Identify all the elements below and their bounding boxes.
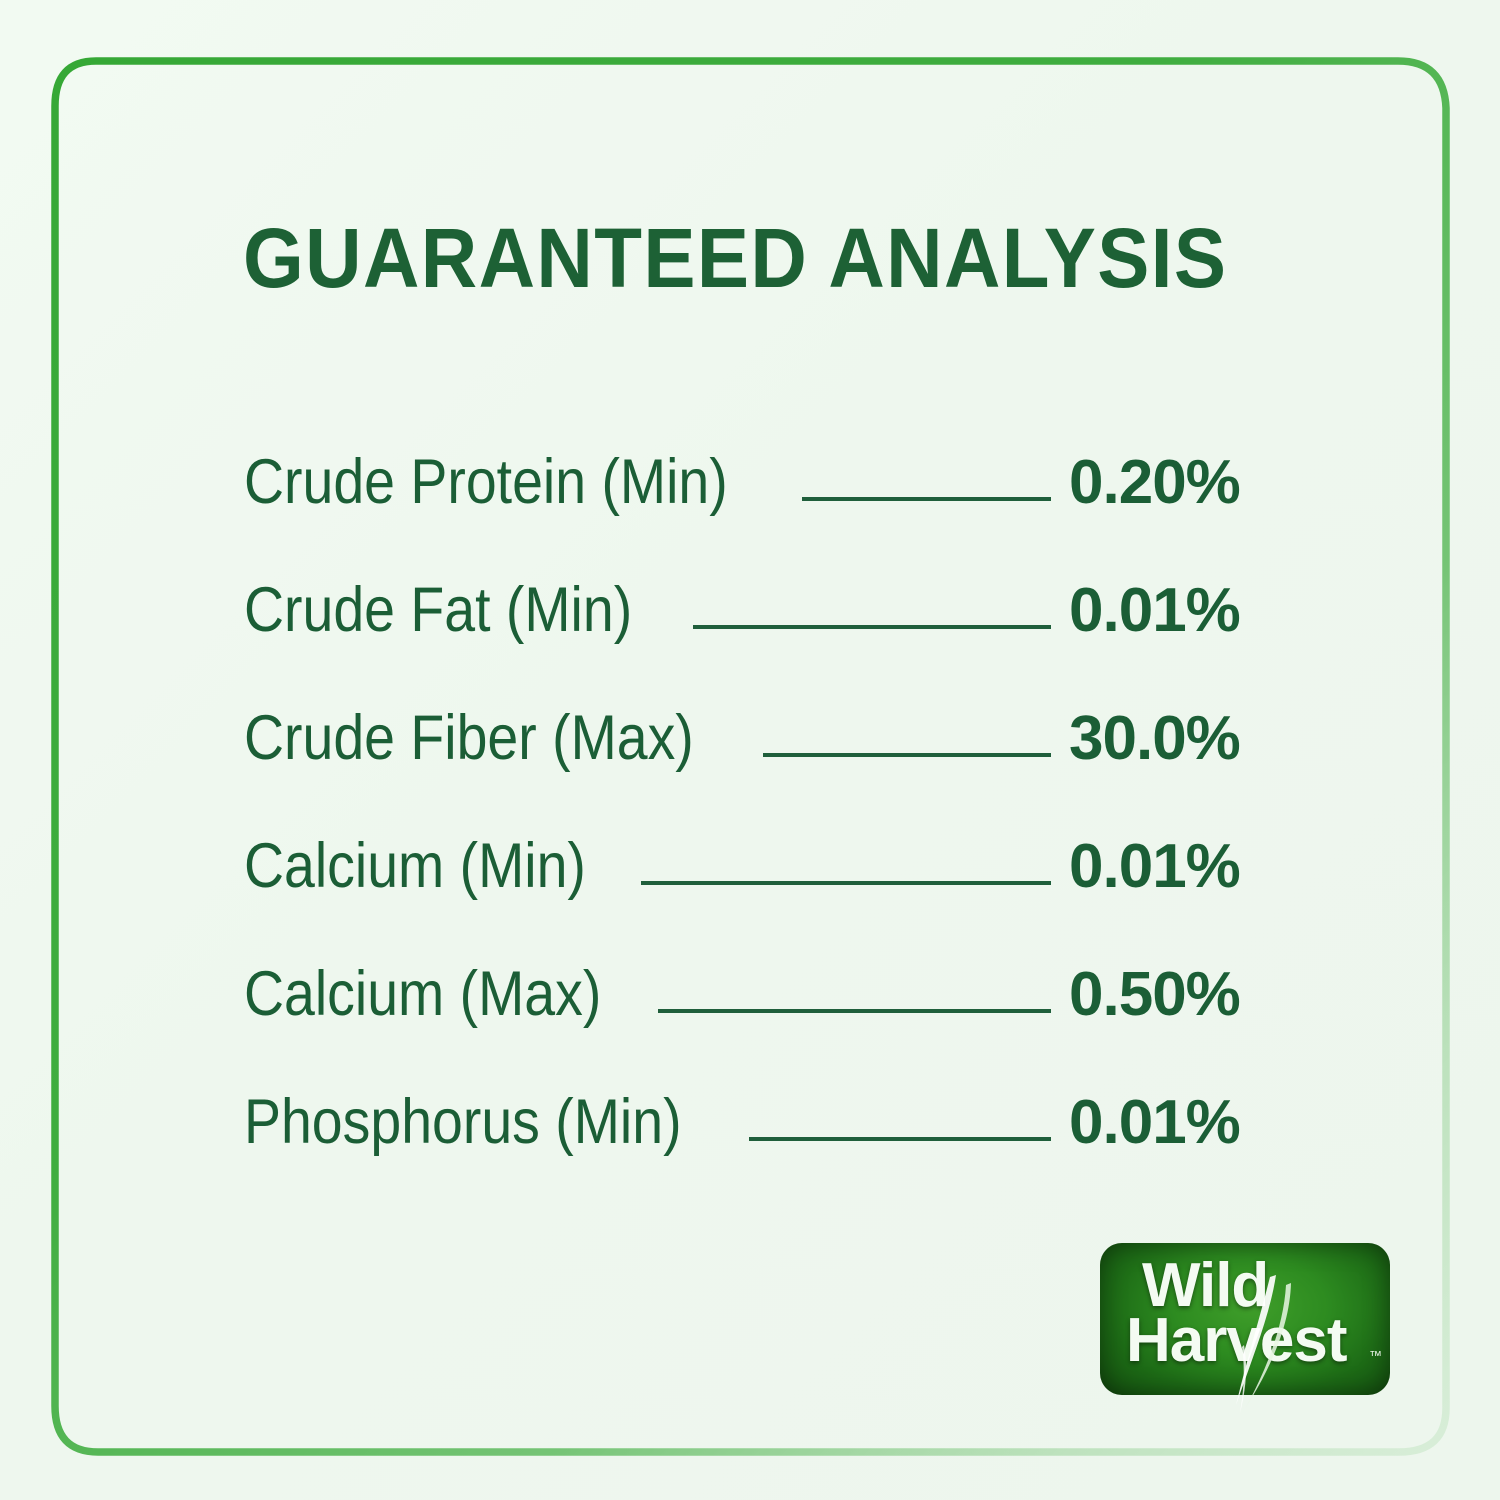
nutrient-value: 0.01%	[1061, 580, 1244, 642]
leader-line	[755, 696, 1061, 759]
guaranteed-analysis-panel: GUARANTEED ANALYSIS Crude Protein (Min) …	[0, 0, 1500, 1500]
grass-blade-icon	[1094, 1237, 1396, 1422]
brand-logo: Wild Harvest ™	[1100, 1243, 1390, 1395]
leader-line	[650, 952, 1061, 1015]
leader-line	[741, 1080, 1061, 1143]
nutrient-label: Crude Fiber (Max)	[244, 707, 694, 770]
guaranteed-analysis-list: Crude Protein (Min) 0.20% Crude Fat (Min…	[244, 440, 1244, 1208]
analysis-row: Phosphorus (Min) 0.01%	[244, 1080, 1244, 1208]
nutrient-label: Crude Protein (Min)	[244, 451, 728, 514]
leader-line	[685, 568, 1061, 631]
nutrient-label: Calcium (Max)	[244, 963, 601, 1026]
analysis-row: Crude Protein (Min) 0.20%	[244, 440, 1244, 568]
nutrient-value: 0.20%	[1061, 452, 1244, 514]
nutrient-value: 0.50%	[1061, 964, 1244, 1026]
nutrient-label: Crude Fat (Min)	[244, 579, 632, 642]
nutrient-label: Phosphorus (Min)	[244, 1091, 682, 1154]
analysis-row: Crude Fat (Min) 0.01%	[244, 568, 1244, 696]
leader-line	[633, 824, 1061, 887]
nutrient-value: 0.01%	[1061, 836, 1244, 898]
nutrient-value: 0.01%	[1061, 1092, 1244, 1154]
nutrient-value: 30.0%	[1061, 708, 1244, 770]
analysis-row: Calcium (Max) 0.50%	[244, 952, 1244, 1080]
analysis-row: Calcium (Min) 0.01%	[244, 824, 1244, 952]
nutrient-label: Calcium (Min)	[244, 835, 586, 898]
leader-line	[794, 440, 1061, 503]
page-title: GUARANTEED ANALYSIS	[243, 212, 1145, 304]
analysis-row: Crude Fiber (Max) 30.0%	[244, 696, 1244, 824]
